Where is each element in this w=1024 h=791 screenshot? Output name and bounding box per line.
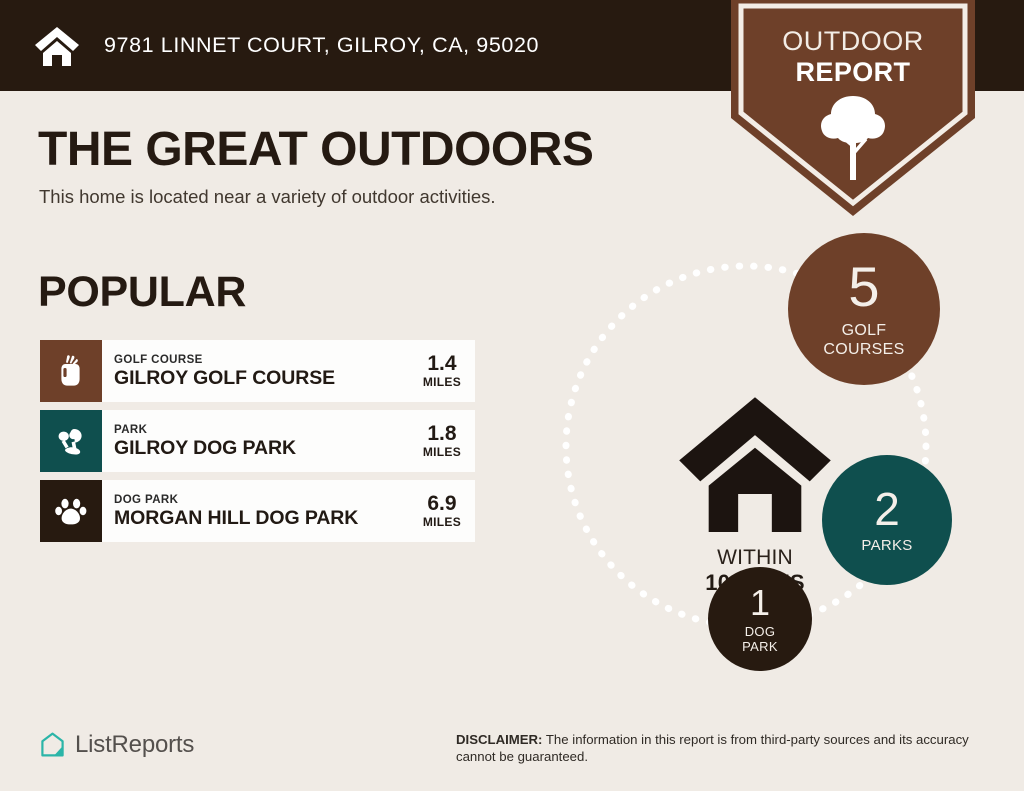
list-item-distance: 6.9 MILES (417, 480, 475, 542)
distance-unit: MILES (423, 515, 461, 530)
stat-label: PARKS (861, 537, 912, 555)
list-item-text: PARK GILROY DOG PARK (102, 410, 417, 472)
distance-value: 1.4 (427, 352, 456, 375)
listreports-house-icon (40, 732, 65, 758)
home-icon (675, 523, 835, 540)
distance-value: 6.9 (427, 492, 456, 515)
radius-diagram: WITHIN 10 MILES 5 GOLF COURSES 2 PARKS 1… (535, 225, 1005, 685)
list-item-text: DOG PARK MORGAN HILL DOG PARK (102, 480, 417, 542)
golf-bag-icon (54, 354, 88, 388)
stat-count: 5 (848, 259, 879, 315)
radius-center-label: WITHIN 10 MILES (675, 393, 835, 596)
list-item-category: PARK (114, 423, 417, 437)
list-item[interactable]: PARK GILROY DOG PARK 1.8 MILES (40, 410, 475, 472)
page-title: THE GREAT OUTDOORS (38, 122, 593, 177)
stat-label-line-2: COURSES (823, 341, 904, 358)
list-item-category: DOG PARK (114, 493, 417, 507)
list-item-name: MORGAN HILL DOG PARK (114, 507, 417, 530)
paw-print-icon-tile (40, 480, 102, 542)
distance-value: 1.8 (427, 422, 456, 445)
list-item-category: GOLF COURSE (114, 353, 417, 367)
stat-count: 1 (750, 585, 770, 621)
stat-bubble-parks[interactable]: 2 PARKS (822, 455, 952, 585)
popular-list: GOLF COURSE GILROY GOLF COURSE 1.4 MILES… (40, 340, 475, 550)
distance-unit: MILES (423, 445, 461, 460)
listreports-logo[interactable]: ListReports (40, 731, 194, 759)
stat-label: DOG PARK (742, 624, 778, 654)
list-item-distance: 1.8 MILES (417, 410, 475, 472)
list-item-name: GILROY GOLF COURSE (114, 367, 417, 390)
header-address: 9781 LINNET COURT, GILROY, CA, 95020 (104, 33, 539, 58)
stat-label-line-1: GOLF (842, 322, 887, 339)
disclaimer-label: DISCLAIMER: (456, 732, 542, 747)
page-subtitle: This home is located near a variety of o… (39, 186, 496, 208)
distance-unit: MILES (423, 375, 461, 390)
paw-print-icon (54, 494, 88, 528)
outdoor-report-badge: OUTDOOR REPORT (731, 0, 975, 216)
stat-label: GOLF COURSES (823, 321, 904, 359)
list-item[interactable]: DOG PARK MORGAN HILL DOG PARK 6.9 MILES (40, 480, 475, 542)
popular-heading: POPULAR (38, 268, 246, 317)
listreports-wordmark: ListReports (75, 731, 194, 759)
stat-label-line-2: PARK (742, 639, 778, 654)
stat-bubble-golf-courses[interactable]: 5 GOLF COURSES (788, 233, 940, 385)
home-icon (34, 25, 80, 67)
park-tree-icon (54, 424, 88, 458)
list-item-name: GILROY DOG PARK (114, 437, 417, 460)
list-item-distance: 1.4 MILES (417, 340, 475, 402)
stat-label-line-1: DOG (745, 624, 776, 639)
list-item-text: GOLF COURSE GILROY GOLF COURSE (102, 340, 417, 402)
park-tree-icon-tile (40, 410, 102, 472)
stat-bubble-dog-park[interactable]: 1 DOG PARK (708, 567, 812, 671)
disclaimer: DISCLAIMER: The information in this repo… (456, 731, 996, 765)
stat-count: 2 (874, 486, 900, 532)
golf-bag-icon-tile (40, 340, 102, 402)
list-item[interactable]: GOLF COURSE GILROY GOLF COURSE 1.4 MILES (40, 340, 475, 402)
